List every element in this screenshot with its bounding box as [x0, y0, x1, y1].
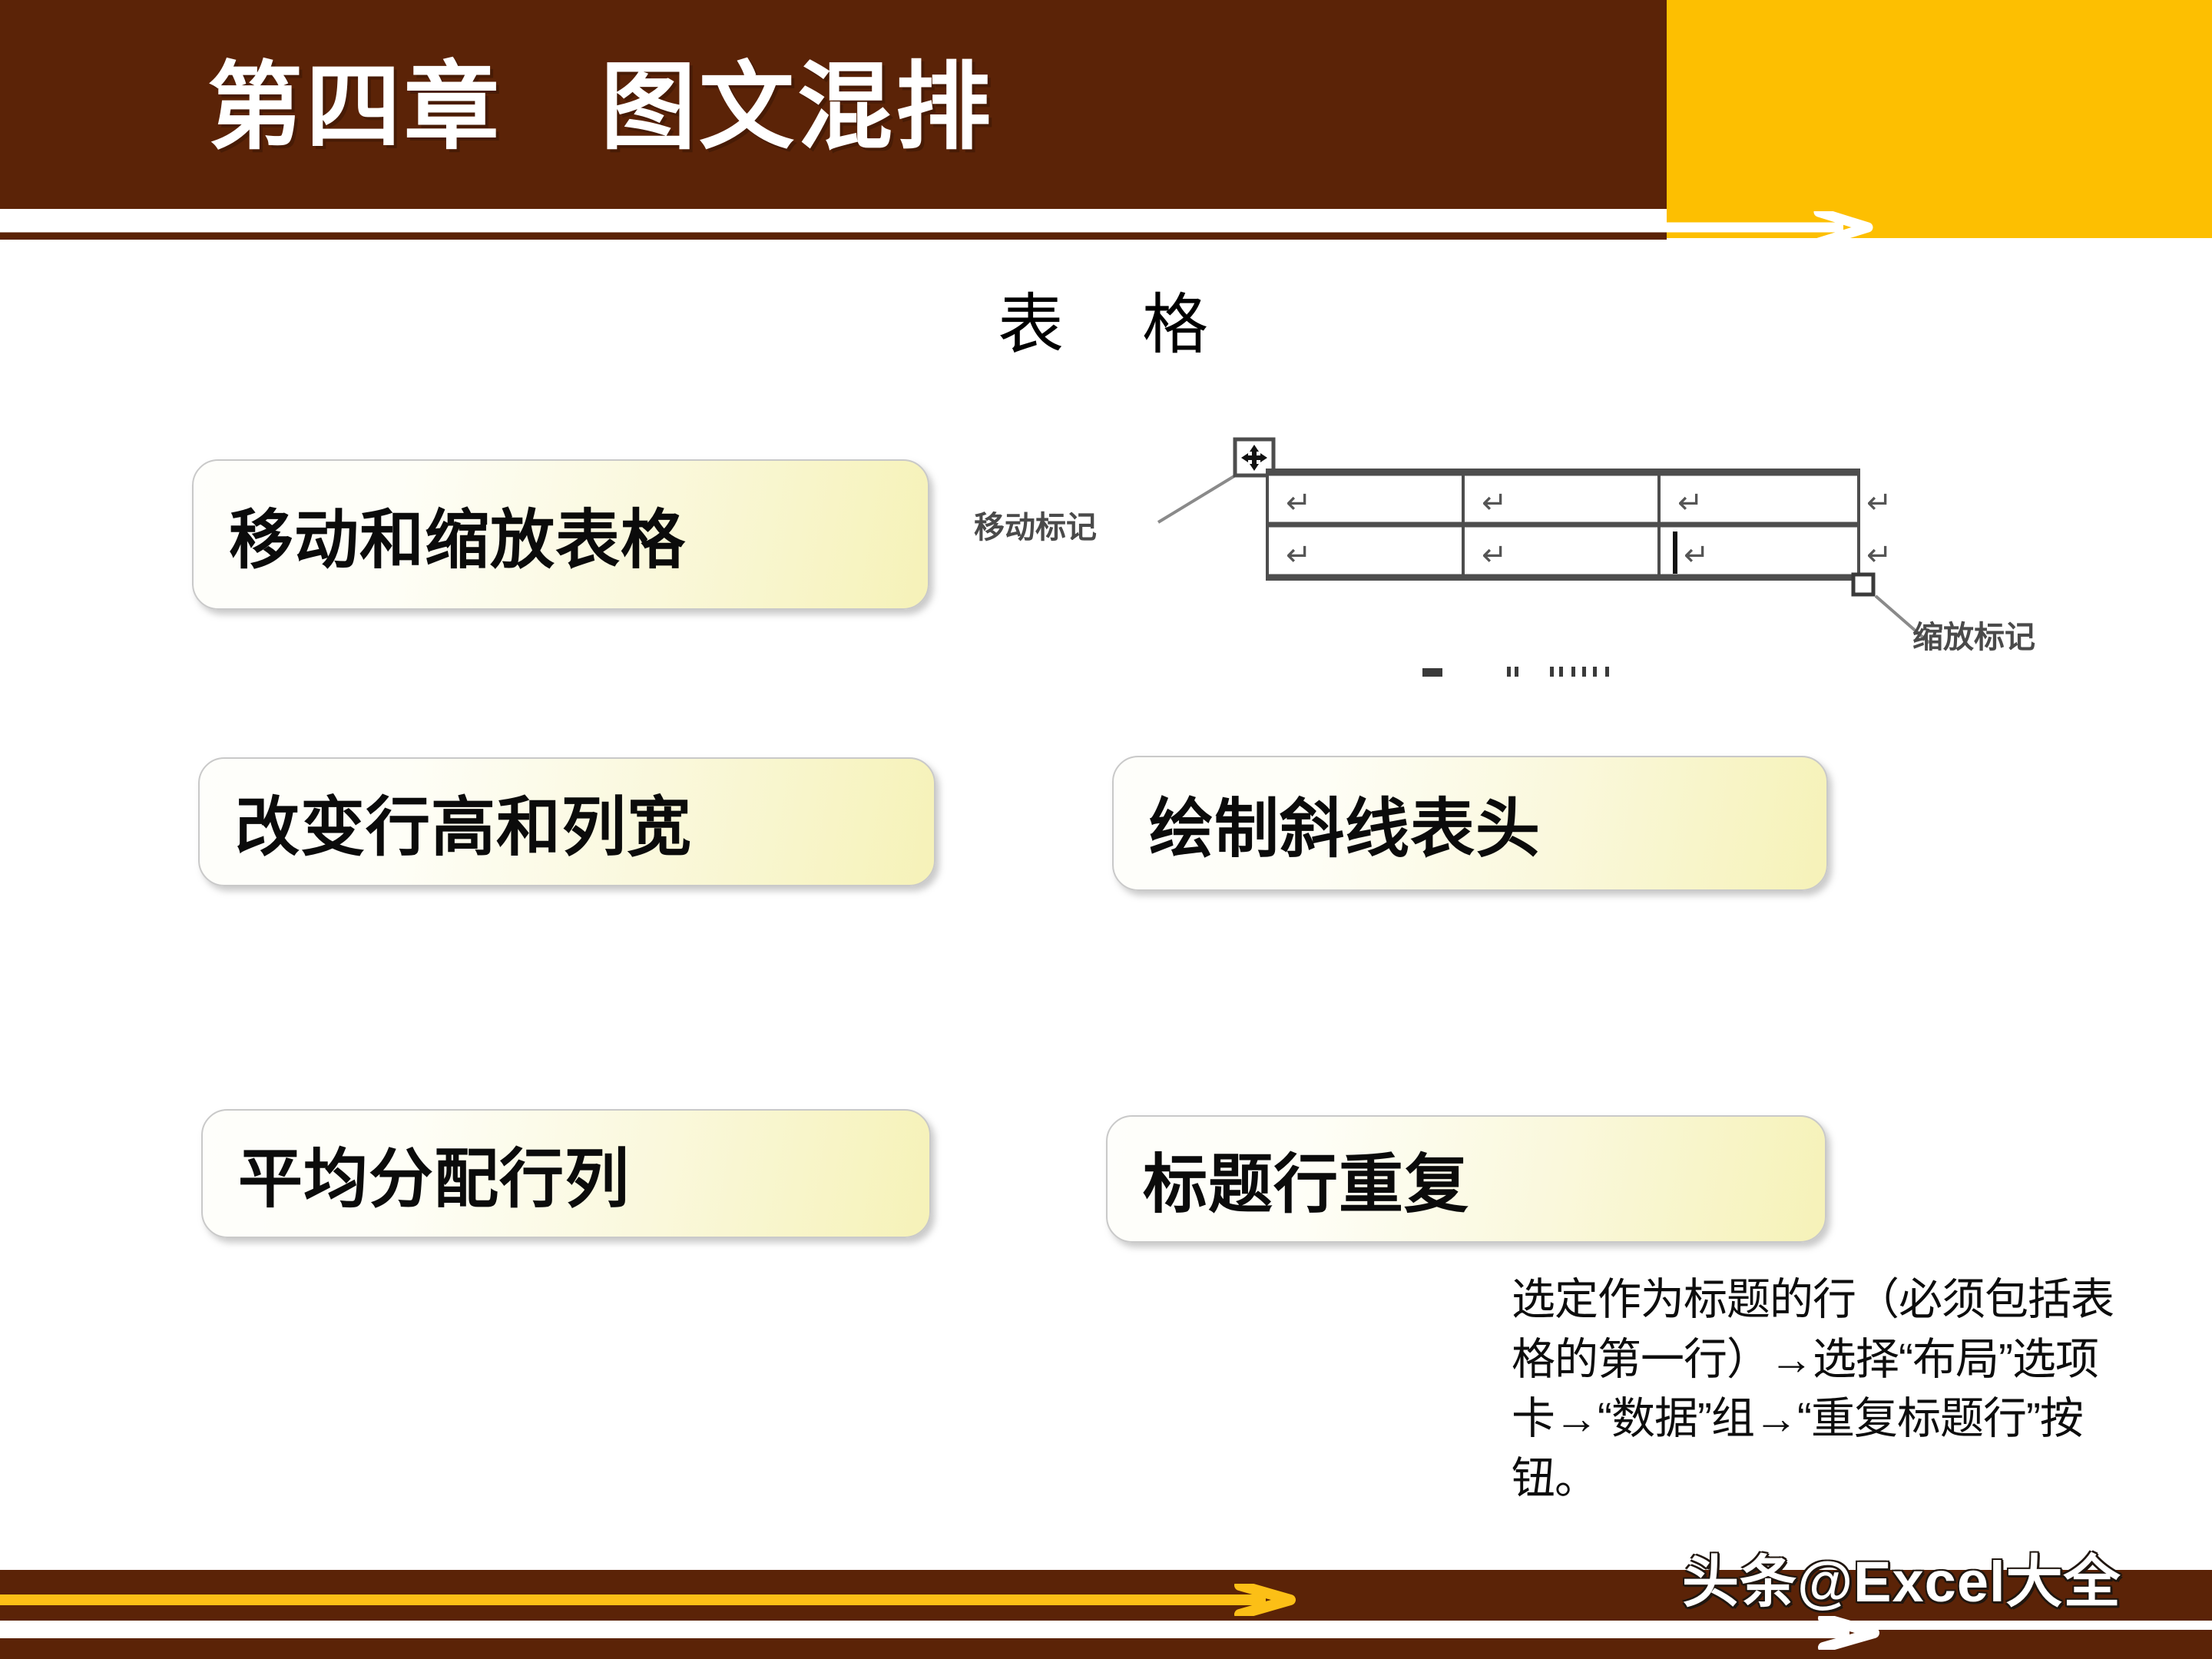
paragraph-mark: ↵ — [1677, 485, 1704, 521]
slide-canvas: 第四章 图文混排 表 格 移动和缩放表格 改变行高和列宽 绘制斜线表头 平均分配… — [0, 0, 2212, 1659]
diagram-caption-fragments — [1422, 667, 1609, 677]
topic-chip-repeat-header-row[interactable]: 标题行重复 — [1106, 1115, 1826, 1243]
topic-chip-label: 标题行重复 — [1143, 1133, 1469, 1226]
paragraph-mark: ↵ — [1684, 538, 1710, 573]
watermark-text: 头条@Excel大全 — [1682, 1536, 2121, 1618]
topic-chip-change-row-height-column-width[interactable]: 改变行高和列宽 — [198, 757, 935, 886]
diagram-label-move-marker: 移动标记 — [974, 502, 1097, 547]
topic-chip-draw-diagonal-header[interactable]: 绘制斜线表头 — [1112, 756, 1828, 891]
leader-line-move — [1158, 470, 1244, 522]
header-accent-panel — [1667, 0, 2212, 238]
table-grid — [1267, 470, 1859, 579]
paragraph-mark: ↵ — [1286, 538, 1312, 573]
topic-chip-label: 改变行高和列宽 — [235, 776, 692, 869]
paragraph-mark: ↵ — [1482, 538, 1508, 573]
section-subtitle: 表 格 — [0, 270, 2212, 366]
topic-chip-label: 平均分配行列 — [238, 1128, 630, 1220]
repeat-header-row-description: 选定作为标题的行（必须包括表格的第一行）→选择“布局”选项卡→“数据”组→“重复… — [1512, 1270, 2118, 1508]
paragraph-mark: ↵ — [1286, 485, 1312, 521]
paragraph-mark-outside: ↵ — [1866, 485, 1892, 521]
diagram-label-resize-marker: 缩放标记 — [1912, 612, 2035, 657]
topic-chip-move-and-resize-table[interactable]: 移动和缩放表格 — [192, 459, 929, 610]
paragraph-mark: ↵ — [1482, 485, 1508, 521]
footer-gold-right-arrow-icon — [0, 1584, 1298, 1616]
text-cursor — [1673, 531, 1677, 574]
topic-chip-label: 绘制斜线表头 — [1149, 777, 1541, 870]
page-title: 第四章 图文混排 — [207, 60, 1575, 155]
table-markers-diagram: ↵ ↵ ↵ ↵ ↵ ↵ ↵ ↵ — [960, 415, 2051, 707]
topic-chip-distribute-rows-columns[interactable]: 平均分配行列 — [201, 1109, 931, 1238]
topic-chip-label: 移动和缩放表格 — [229, 488, 686, 581]
paragraph-mark-outside: ↵ — [1866, 538, 1892, 573]
footer-white-right-arrow-icon — [0, 1616, 1882, 1650]
resize-square-handle-icon — [1853, 575, 1873, 594]
header-right-arrow-icon — [0, 211, 1874, 243]
